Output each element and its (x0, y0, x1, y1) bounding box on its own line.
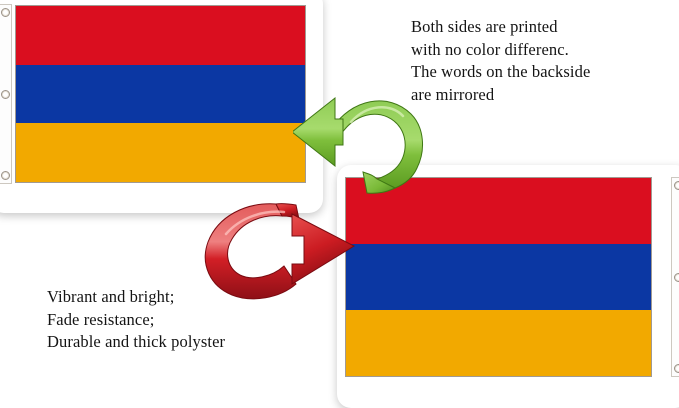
note-line: Durable and thick polyster (47, 331, 225, 354)
flag-stripe-orange (16, 123, 305, 182)
front-flag-card (0, 0, 323, 213)
note-line: with no color differenc. (411, 39, 590, 62)
grommet-icon (674, 273, 679, 282)
note-line: Vibrant and bright; (47, 286, 225, 309)
front-flag (15, 5, 306, 183)
note-line: are mirrored (411, 84, 590, 107)
note-line: Both sides are printed (411, 16, 590, 39)
flag-stripe-blue (16, 65, 305, 124)
product-infographic: Both sides are printed with no color dif… (0, 0, 679, 408)
grommet-icon (1, 8, 10, 17)
back-flag (345, 177, 652, 377)
both-sides-printed-note: Both sides are printed with no color dif… (411, 16, 590, 106)
flag-stripe-red (16, 6, 305, 65)
front-flag-hoist-band (0, 4, 12, 184)
quality-features-note: Vibrant and bright; Fade resistance; Dur… (47, 286, 225, 354)
note-line: Fade resistance; (47, 309, 225, 332)
grommet-icon (1, 171, 10, 180)
flag-stripe-blue (346, 244, 651, 310)
flag-stripe-orange (346, 310, 651, 376)
back-flag-card (337, 165, 679, 408)
back-flag-hoist-band (671, 177, 679, 377)
grommet-icon (674, 181, 679, 190)
flag-stripe-red (346, 178, 651, 244)
grommet-icon (1, 90, 10, 99)
grommet-icon (674, 364, 679, 373)
note-line: The words on the backside (411, 61, 590, 84)
